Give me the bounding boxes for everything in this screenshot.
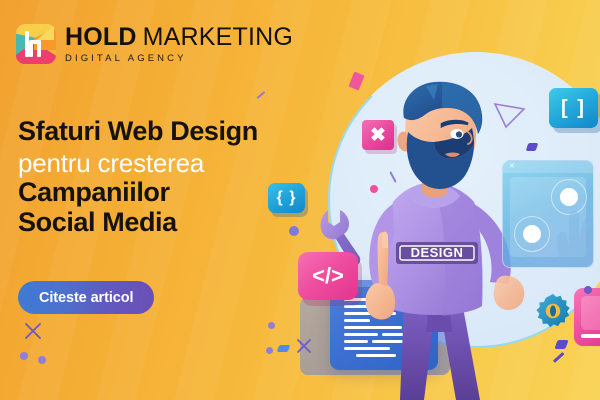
code-line	[344, 319, 370, 322]
marketing-banner: { } [ ]	[0, 0, 600, 400]
code-line	[344, 326, 402, 329]
code-line	[356, 354, 396, 357]
hero-circle-rim	[328, 52, 600, 348]
headline-line-4: Social Media	[18, 209, 348, 237]
headline-line-2: pentru cresterea	[18, 150, 348, 177]
headline-block: Sfaturi Web Design pentru cresterea Camp…	[18, 118, 348, 236]
confetti-pink-bar	[348, 72, 364, 91]
confetti-blue-chip	[277, 345, 291, 352]
headline-line-1: Sfaturi Web Design	[18, 118, 348, 146]
confetti-dot-purple-4	[266, 347, 273, 354]
confetti-dot-purple-6	[38, 356, 46, 364]
code-line	[344, 340, 368, 343]
code-line	[344, 347, 390, 350]
confetti-stroke-4	[256, 91, 265, 99]
brand-name-light: MARKETING	[143, 25, 293, 50]
card-pink-bar	[581, 334, 600, 338]
logo-mark-icon	[16, 24, 56, 64]
brand-logo[interactable]: HOLD MARKETING DIGITAL AGENCY	[16, 24, 293, 64]
brand-wordmark: HOLD MARKETING DIGITAL AGENCY	[65, 25, 293, 64]
code-line	[372, 340, 416, 343]
brand-name-bold: HOLD	[65, 25, 137, 50]
confetti-cross-1	[296, 338, 312, 354]
read-article-button[interactable]: Citeste articol	[18, 281, 154, 314]
code-line	[382, 333, 416, 336]
confetti-stroke-3	[553, 352, 564, 363]
headline-line-3: Campaniilor	[18, 179, 348, 207]
code-line	[344, 333, 378, 336]
confetti-dot-purple-3	[268, 322, 275, 329]
brand-tagline: DIGITAL AGENCY	[65, 53, 293, 64]
confetti-dot-purple-2	[330, 330, 337, 337]
card-code-tag-label: </>	[312, 263, 344, 289]
confetti-cross-2	[24, 322, 42, 340]
confetti-purple-chip-2	[554, 340, 568, 349]
confetti-dot-purple-5	[20, 352, 28, 360]
